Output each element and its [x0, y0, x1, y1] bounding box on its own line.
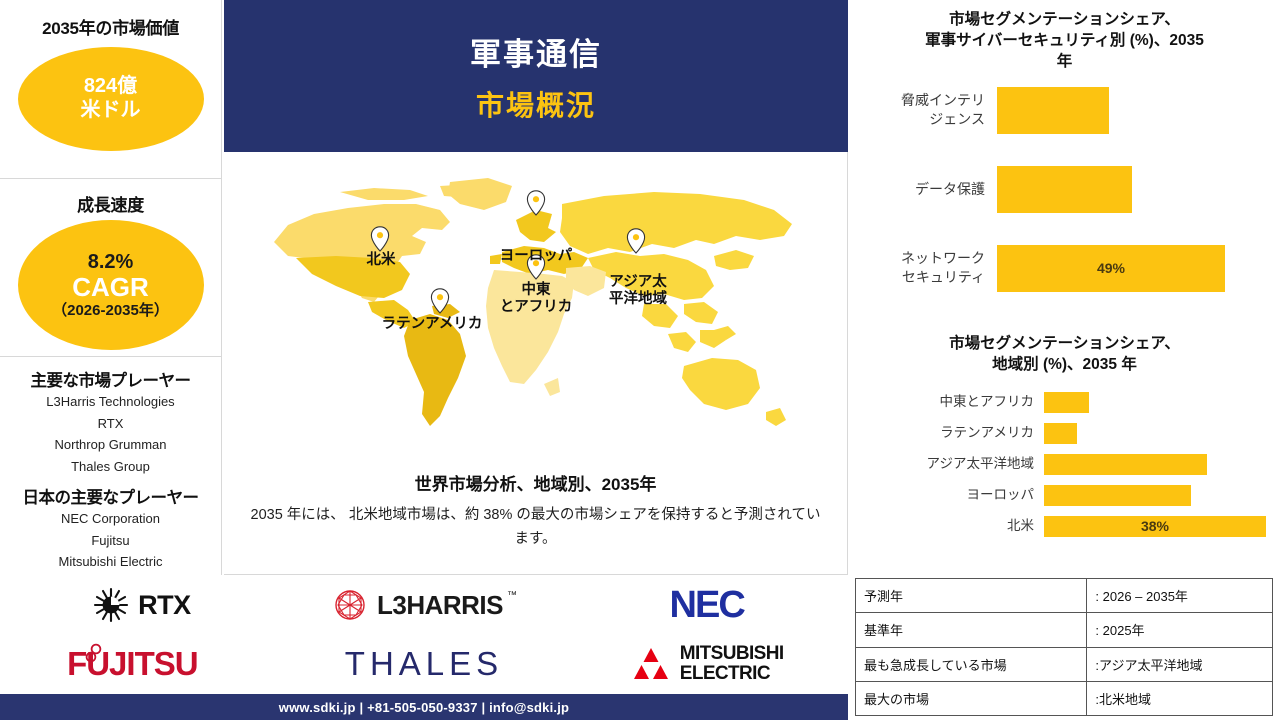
- table-cell-value: : 2025年: [1087, 613, 1273, 647]
- nec-logo: NEC: [670, 584, 744, 627]
- table-row: 予測年 : 2026 – 2035年: [856, 579, 1273, 613]
- right-charts-column: 市場セグメンテーションシェア、 軍事サイバーセキュリティ別 (%)、2035 年…: [849, 0, 1280, 575]
- left-sidebar: 2035年の市場価値 824億 米ドル 成長速度 8.2% CAGR （2026…: [0, 0, 222, 575]
- bar-label: アジア太平洋地域: [849, 455, 1044, 473]
- table-cell-key: 基準年: [856, 613, 1087, 647]
- map-region-greenland: [448, 178, 512, 210]
- thales-logo-text: THALES: [345, 645, 503, 683]
- map-region-oceania: [682, 326, 786, 426]
- table-cell-value: : 2026 – 2035年: [1087, 579, 1273, 613]
- mitsubishi-three-diamonds-icon: [630, 645, 672, 683]
- thales-logo: THALES: [345, 645, 503, 683]
- japan-players-list: NEC Corporation Fujitsu Mitsubishi Elect…: [0, 508, 221, 573]
- bar-network-security: 49%: [997, 245, 1225, 292]
- fujitsu-logo: FUJITSU: [85, 643, 198, 685]
- chart-bar-row: 中東とアフリカ: [849, 392, 1280, 413]
- map-label-asia-pacific: アジア太 平洋地域: [596, 274, 680, 308]
- bar-asia-pacific: [1044, 454, 1207, 475]
- mitsubishi-line2: ELECTRIC: [680, 664, 784, 684]
- table-cell-key: 予測年: [856, 579, 1087, 613]
- list-item: Mitsubishi Electric: [0, 551, 221, 573]
- table-cell-key: 最大の市場: [856, 681, 1087, 715]
- market-value-line2: 米ドル: [81, 99, 141, 123]
- chart-bar-row: ヨーロッパ: [849, 485, 1280, 506]
- cagr-label: CAGR: [72, 274, 149, 301]
- bar-label: 中東とアフリカ: [849, 393, 1044, 411]
- chart2-title-line2: 地域別 (%)、2035 年: [857, 355, 1272, 376]
- chart-bar-row: データ保護: [849, 166, 1280, 213]
- map-label-latin-america: ラテンアメリカ: [366, 316, 498, 333]
- footer-contact-text: www.sdki.jp | +81-505-050-9337 | info@sd…: [279, 700, 569, 715]
- bar-data-protection: [997, 166, 1132, 213]
- bar-label: 北米: [849, 517, 1044, 535]
- bar-track: [1044, 392, 1280, 413]
- table-cell-key: 最も急成長している市場: [856, 647, 1087, 681]
- chart1-title-line1: 市場セグメンテーションシェア、: [857, 10, 1272, 31]
- market-value-title: 2035年の市場価値: [0, 14, 221, 39]
- list-item: RTX: [0, 413, 221, 435]
- market-value-section: 2035年の市場価値 824億 米ドル: [0, 0, 221, 178]
- map-pin-europe[interactable]: [526, 190, 546, 216]
- bar-latin-america: [1044, 423, 1077, 444]
- table-row: 基準年 : 2025年: [856, 613, 1273, 647]
- bar-europe: [1044, 485, 1191, 506]
- title-banner: 軍事通信 市場概況: [224, 0, 848, 152]
- table-row: 最も急成長している市場 :アジア太平洋地域: [856, 647, 1273, 681]
- regional-chart-title: 市場セグメンテーションシェア、 地域別 (%)、2035 年: [849, 334, 1280, 376]
- map-description: 2035 年には、 北米地域市場は、約 38% の最大の市場シェアを保持すると予…: [246, 504, 825, 552]
- l3harris-polyhedron-icon: [331, 586, 369, 624]
- map-pin-asia-pacific[interactable]: [626, 228, 646, 254]
- bar-track: [1044, 485, 1280, 506]
- world-map: 北米 ヨーロッパ アジア太 平洋地域 中東 とアフリカ ラテンアメリカ: [244, 170, 828, 440]
- world-map-panel: 北米 ヨーロッパ アジア太 平洋地域 中東 とアフリカ ラテンアメリカ 世界市場…: [224, 152, 848, 575]
- japan-players-title: 日本の主要なプレーヤー: [0, 484, 221, 508]
- bar-label: ネットワーク セキュリティ: [849, 249, 997, 287]
- map-label-north-america: 北米: [354, 252, 408, 269]
- mitsubishi-line1: MITSUBISHI: [680, 644, 784, 664]
- bar-track: [1044, 423, 1280, 444]
- company-logos: RTX L3HARRIS ™ NEC: [0, 576, 848, 693]
- bar-label: データ保護: [849, 180, 997, 199]
- chart-bar-row: アジア太平洋地域: [849, 454, 1280, 475]
- players-section: 主要な市場プレーヤー L3Harris Technologies RTX Nor…: [0, 356, 221, 575]
- l3harris-logo: L3HARRIS ™: [331, 586, 517, 624]
- regional-segment-chart: 市場セグメンテーションシェア、 地域別 (%)、2035 年 中東とアフリカ ラ…: [849, 334, 1280, 547]
- cagr-period: （2026-2035年）: [52, 302, 169, 320]
- table-cell-value: :アジア太平洋地域: [1087, 647, 1273, 681]
- bar-label: 脅威インテリ ジェンス: [849, 91, 997, 129]
- map-caption: 世界市場分析、地域別、2035年: [224, 470, 847, 495]
- map-label-europe: ヨーロッパ: [490, 248, 582, 265]
- cagr-percent: 8.2%: [88, 251, 134, 275]
- chart-bar-row: ラテンアメリカ: [849, 423, 1280, 444]
- cybersecurity-chart-title: 市場セグメンテーションシェア、 軍事サイバーセキュリティ別 (%)、2035 年: [849, 10, 1280, 73]
- bar-middle-east-africa: [1044, 392, 1089, 413]
- key-players-list: L3Harris Technologies RTX Northrop Grumm…: [0, 391, 221, 478]
- bar-value-label: 49%: [1097, 260, 1125, 276]
- mitsubishi-electric-logo: MITSUBISHI ELECTRIC: [630, 644, 784, 684]
- bar-value-label: 38%: [1141, 518, 1169, 534]
- chart1-title-line2: 軍事サイバーセキュリティ別 (%)、2035: [857, 31, 1272, 52]
- growth-rate-bubble: 8.2% CAGR （2026-2035年）: [18, 220, 204, 350]
- infographic-root: 2035年の市場価値 824億 米ドル 成長速度 8.2% CAGR （2026…: [0, 0, 1280, 720]
- market-value-line1: 824億: [84, 75, 137, 99]
- chart1-title-line3: 年: [857, 52, 1272, 73]
- map-label-mea-line1: 中東: [492, 282, 580, 299]
- l3harris-trademark: ™: [507, 590, 517, 601]
- table-cell-value: :北米地域: [1087, 681, 1273, 715]
- bar-track: [1044, 454, 1280, 475]
- map-pin-north-america[interactable]: [370, 226, 390, 252]
- map-pin-latin-america[interactable]: [430, 288, 450, 314]
- chart-bar-row: ネットワーク セキュリティ 49%: [849, 245, 1280, 292]
- list-item: Northrop Grumman: [0, 434, 221, 456]
- fujitsu-logo-text: FUJITSU: [67, 645, 198, 683]
- growth-rate-title: 成長速度: [0, 191, 221, 216]
- bar-label: ヨーロッパ: [849, 486, 1044, 504]
- bar-threat-intelligence: [997, 87, 1109, 134]
- list-item: L3Harris Technologies: [0, 391, 221, 413]
- contact-footer: www.sdki.jp | +81-505-050-9337 | info@sd…: [0, 694, 848, 720]
- map-label-mea-line2: とアフリカ: [492, 299, 580, 316]
- list-item: Fujitsu: [0, 530, 221, 552]
- table-row: 最大の市場 :北米地域: [856, 681, 1273, 715]
- bar-track: 38%: [1044, 516, 1280, 537]
- bar-label: ラテンアメリカ: [849, 424, 1044, 442]
- chart-bar-row: 脅威インテリ ジェンス: [849, 87, 1280, 134]
- key-players-title: 主要な市場プレーヤー: [0, 367, 221, 391]
- l3harris-logo-text: L3HARRIS: [377, 590, 503, 621]
- map-label-asia-pacific-line1: アジア太: [596, 274, 680, 291]
- list-item: Thales Group: [0, 456, 221, 478]
- nec-logo-text: NEC: [670, 584, 744, 627]
- rtx-logo: RTX: [92, 586, 191, 624]
- rtx-sunburst-icon: [92, 586, 130, 624]
- list-item: NEC Corporation: [0, 508, 221, 530]
- bar-track: 49%: [997, 245, 1280, 292]
- growth-rate-section: 成長速度 8.2% CAGR （2026-2035年）: [0, 178, 221, 356]
- cybersecurity-segment-chart: 市場セグメンテーションシェア、 軍事サイバーセキュリティ別 (%)、2035 年…: [849, 10, 1280, 324]
- mitsubishi-logo-text: MITSUBISHI ELECTRIC: [680, 644, 784, 684]
- page-subtitle: 市場概況: [476, 84, 596, 124]
- map-label-asia-pacific-line2: 平洋地域: [596, 291, 680, 308]
- bar-track: [997, 87, 1280, 134]
- chart-bar-row: 北米 38%: [849, 516, 1280, 537]
- bar-north-america: 38%: [1044, 516, 1266, 537]
- rtx-logo-text: RTX: [138, 590, 191, 621]
- market-spec-table: 予測年 : 2026 – 2035年 基準年 : 2025年 最も急成長している…: [855, 578, 1273, 716]
- page-title: 軍事通信: [470, 29, 602, 74]
- chart2-title-line1: 市場セグメンテーションシェア、: [857, 334, 1272, 355]
- map-label-middle-east-africa: 中東 とアフリカ: [492, 282, 580, 316]
- bar-track: [997, 166, 1280, 213]
- market-value-bubble: 824億 米ドル: [18, 47, 204, 151]
